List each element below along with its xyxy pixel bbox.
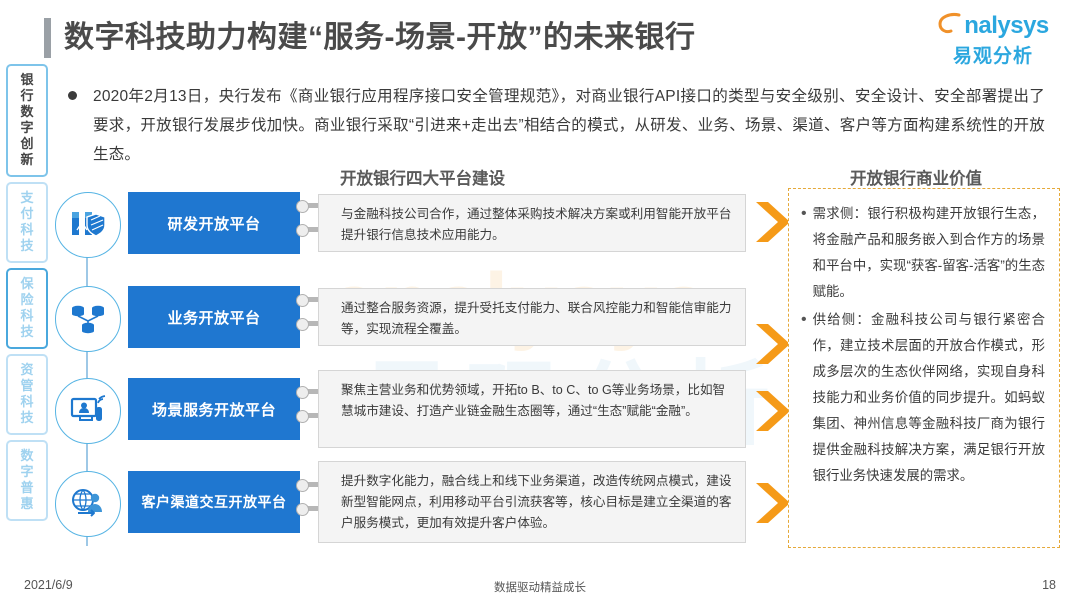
chevron-right-icon [752,387,792,435]
platform-description-text: 聚焦主营业务和优势领域，开拓to B、to C、to G等业务场景，比如智慧城市… [341,383,725,418]
platform-name-box[interactable]: 客户渠道交互开放平台 [128,471,300,533]
footer: 2021/6/9 数据驱动精益成长 18 [0,568,1080,608]
platform-flow: 研发开放平台 与金融科技公司合作，通过整体采购技术解决方案或利用智能开放平台提升… [0,186,780,566]
bullet-icon: • [801,201,807,227]
brand-logo: nalysys 易观分析 [928,12,1058,68]
intro-paragraph: 2020年2月13日，央行发布《商业银行应用程序接口安全管理规范》，对商业银行A… [60,82,1045,169]
platform-name-box[interactable]: 业务开放平台 [128,286,300,348]
swoosh-icon [937,12,963,38]
value-item-text: 供给侧：金融科技公司与银行紧密合作，建立技术层面的开放合作模式，形成多层次的生态… [813,307,1045,489]
platform-description: 聚焦主营业务和优势领域，开拓to B、to C、to G等业务场景，比如智慧城市… [318,370,746,448]
chevron-right-icon [752,198,792,246]
bullet-icon: • [801,307,807,333]
package-shield-icon [55,192,121,258]
platform-description-text: 与金融科技公司合作，通过整体采购技术解决方案或利用智能开放平台提升银行信息技术应… [341,207,731,242]
platform-name: 研发开放平台 [167,213,260,234]
business-value-panel: • 需求侧：银行积极构建开放银行生态，将金融产品和服务嵌入到合作方的场景和平台中… [788,188,1060,548]
platform-name: 业务开放平台 [167,307,260,328]
intro-text: 2020年2月13日，央行发布《商业银行应用程序接口安全管理规范》，对商业银行A… [93,82,1045,169]
platform-name: 客户渠道交互开放平台 [142,492,287,512]
platform-description-text: 提升数字化能力，融合线上和线下业务渠道，改造传统网点模式，建设新型智能网点，利用… [341,474,731,530]
database-network-icon [55,286,121,352]
page-title: 数字科技助力构建“服务-场景-开放”的未来银行 [44,18,695,58]
platform-name-box[interactable]: 场景服务开放平台 [128,378,300,440]
globe-user-icon [55,471,121,537]
title-text: 数字科技助力构建“服务-场景-开放”的未来银行 [64,18,695,58]
value-list-item: • 供给侧：金融科技公司与银行紧密合作，建立技术层面的开放合作模式，形成多层次的… [799,307,1045,489]
logo-chinese-name: 易观分析 [928,41,1058,68]
platform-name: 场景服务开放平台 [152,399,276,420]
footer-tagline: 数据驱动精益成长 [0,579,1080,595]
logo-wordmark: nalysys [964,14,1049,38]
platform-description-text: 通过整合服务资源，提升受托支付能力、联合风控能力和智能信审能力等，实现流程全覆盖… [341,301,731,336]
title-accent-bar [44,18,51,58]
platform-name-box[interactable]: 研发开放平台 [128,192,300,254]
platform-description: 提升数字化能力，融合线上和线下业务渠道，改造传统网点模式，建设新型智能网点，利用… [318,461,746,543]
platform-description: 通过整合服务资源，提升受托支付能力、联合风控能力和智能信审能力等，实现流程全覆盖… [318,288,746,346]
right-section-heading: 开放银行商业价值 [850,165,982,189]
sidebar-item-bank-digital-innovation[interactable]: 银行数字创新 [6,64,48,177]
monitor-user-wifi-icon [55,378,121,444]
bullet-icon [68,91,77,100]
value-item-text: 需求侧：银行积极构建开放银行生态，将金融产品和服务嵌入到合作方的场景和平台中，实… [813,201,1045,305]
sidebar-item-label: 银行数字创新 [8,72,46,168]
chevron-right-icon [752,320,792,368]
chevron-right-icon [752,479,792,527]
footer-page-number: 18 [1042,578,1056,592]
platform-description: 与金融科技公司合作，通过整体采购技术解决方案或利用智能开放平台提升银行信息技术应… [318,194,746,252]
value-list-item: • 需求侧：银行积极构建开放银行生态，将金融产品和服务嵌入到合作方的场景和平台中… [799,201,1045,305]
